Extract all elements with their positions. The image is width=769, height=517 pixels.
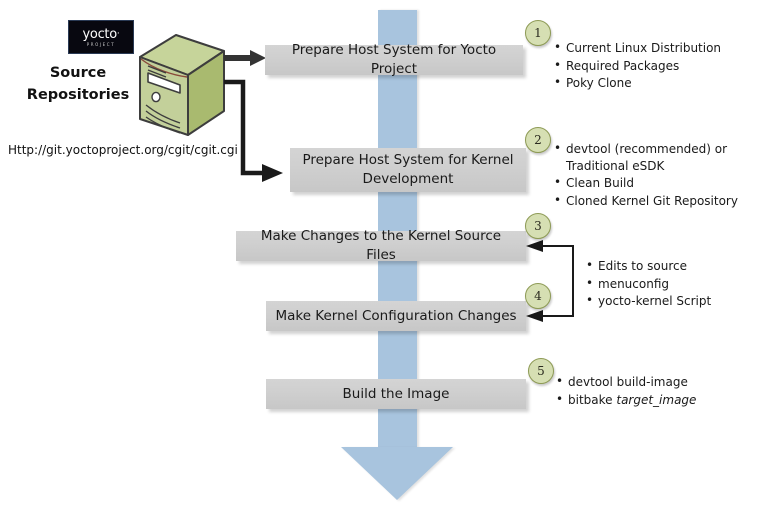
note-item: Cloned Kernel Git Repository xyxy=(554,193,760,210)
step-1-number: 1 xyxy=(534,26,542,40)
note-item: menuconfig xyxy=(586,276,766,293)
logo-subtitle: PROJECT xyxy=(87,43,115,47)
step-3-number: 3 xyxy=(534,219,542,233)
note-item: devtool (recommended) or Traditional eSD… xyxy=(554,141,760,174)
step-4-number: 4 xyxy=(534,289,542,303)
process-box-2-line2: Development xyxy=(363,171,454,187)
note-item: bitbake target_image xyxy=(556,392,756,409)
step-number-badge-4: 4 xyxy=(525,283,551,309)
process-box-1-label: Prepare Host System for Yocto Project xyxy=(273,41,515,79)
step-number-badge-2: 2 xyxy=(525,127,551,153)
step-number-badge-3: 3 xyxy=(525,213,551,239)
process-box-2-label: Prepare Host System for Kernel Developme… xyxy=(302,151,513,189)
notes-list-step-1: Current Linux Distribution Required Pack… xyxy=(554,40,762,93)
process-box-2-line1: Prepare Host System for Kernel xyxy=(302,152,513,168)
process-box-prepare-host-yocto[interactable]: Prepare Host System for Yocto Project xyxy=(265,45,523,75)
note-item: Current Linux Distribution xyxy=(554,40,762,57)
notes-list-step-3-4: Edits to source menuconfig yocto-kernel … xyxy=(586,258,766,311)
source-label-line1: Source xyxy=(18,62,138,84)
diagram-canvas: yocto· PROJECT Source Repositories Http:… xyxy=(0,0,769,517)
note-item: yocto-kernel Script xyxy=(586,293,766,310)
notes-list-step-2: devtool (recommended) or Traditional eSD… xyxy=(554,141,760,210)
process-box-4-label: Make Kernel Configuration Changes xyxy=(275,307,516,326)
connector-server-to-box1 xyxy=(224,50,266,66)
logo-dot: · xyxy=(117,29,120,39)
note-command: bitbake xyxy=(568,393,616,407)
process-box-5-label: Build the Image xyxy=(343,385,450,404)
process-box-prepare-host-kernel[interactable]: Prepare Host System for Kernel Developme… xyxy=(290,148,526,192)
yocto-project-logo: yocto· PROJECT xyxy=(68,20,134,54)
step-number-badge-5: 5 xyxy=(528,358,554,384)
connector-server-to-box2 xyxy=(224,82,283,182)
source-repositories-label: Source Repositories xyxy=(18,62,138,106)
notes-list-step-5: devtool build-image bitbake target_image xyxy=(556,374,756,409)
step-2-number: 2 xyxy=(534,133,542,147)
note-italic-arg: target_image xyxy=(616,393,696,407)
note-item: Poky Clone xyxy=(554,75,762,92)
note-item: Required Packages xyxy=(554,58,762,75)
logo-wordmark: yocto· xyxy=(83,28,120,41)
process-box-build-image[interactable]: Build the Image xyxy=(266,379,526,409)
logo-word-text: yocto xyxy=(83,27,117,42)
source-label-line2: Repositories xyxy=(18,84,138,106)
flow-arrow-head xyxy=(341,447,453,500)
process-box-make-config-changes[interactable]: Make Kernel Configuration Changes xyxy=(266,301,526,331)
note-item: Edits to source xyxy=(586,258,766,275)
step-5-number: 5 xyxy=(537,364,545,378)
connector-notes-to-box3-box4 xyxy=(526,240,573,322)
note-item: Clean Build xyxy=(554,175,760,192)
step-number-badge-1: 1 xyxy=(525,20,551,46)
repository-url-text: Http://git.yoctoproject.org/cgit/cgit.cg… xyxy=(8,143,238,157)
process-box-3-label: Make Changes to the Kernel Source Files xyxy=(244,227,518,265)
process-box-make-source-changes[interactable]: Make Changes to the Kernel Source Files xyxy=(236,231,526,261)
note-item: devtool build-image xyxy=(556,374,756,391)
server-icon xyxy=(136,33,228,137)
